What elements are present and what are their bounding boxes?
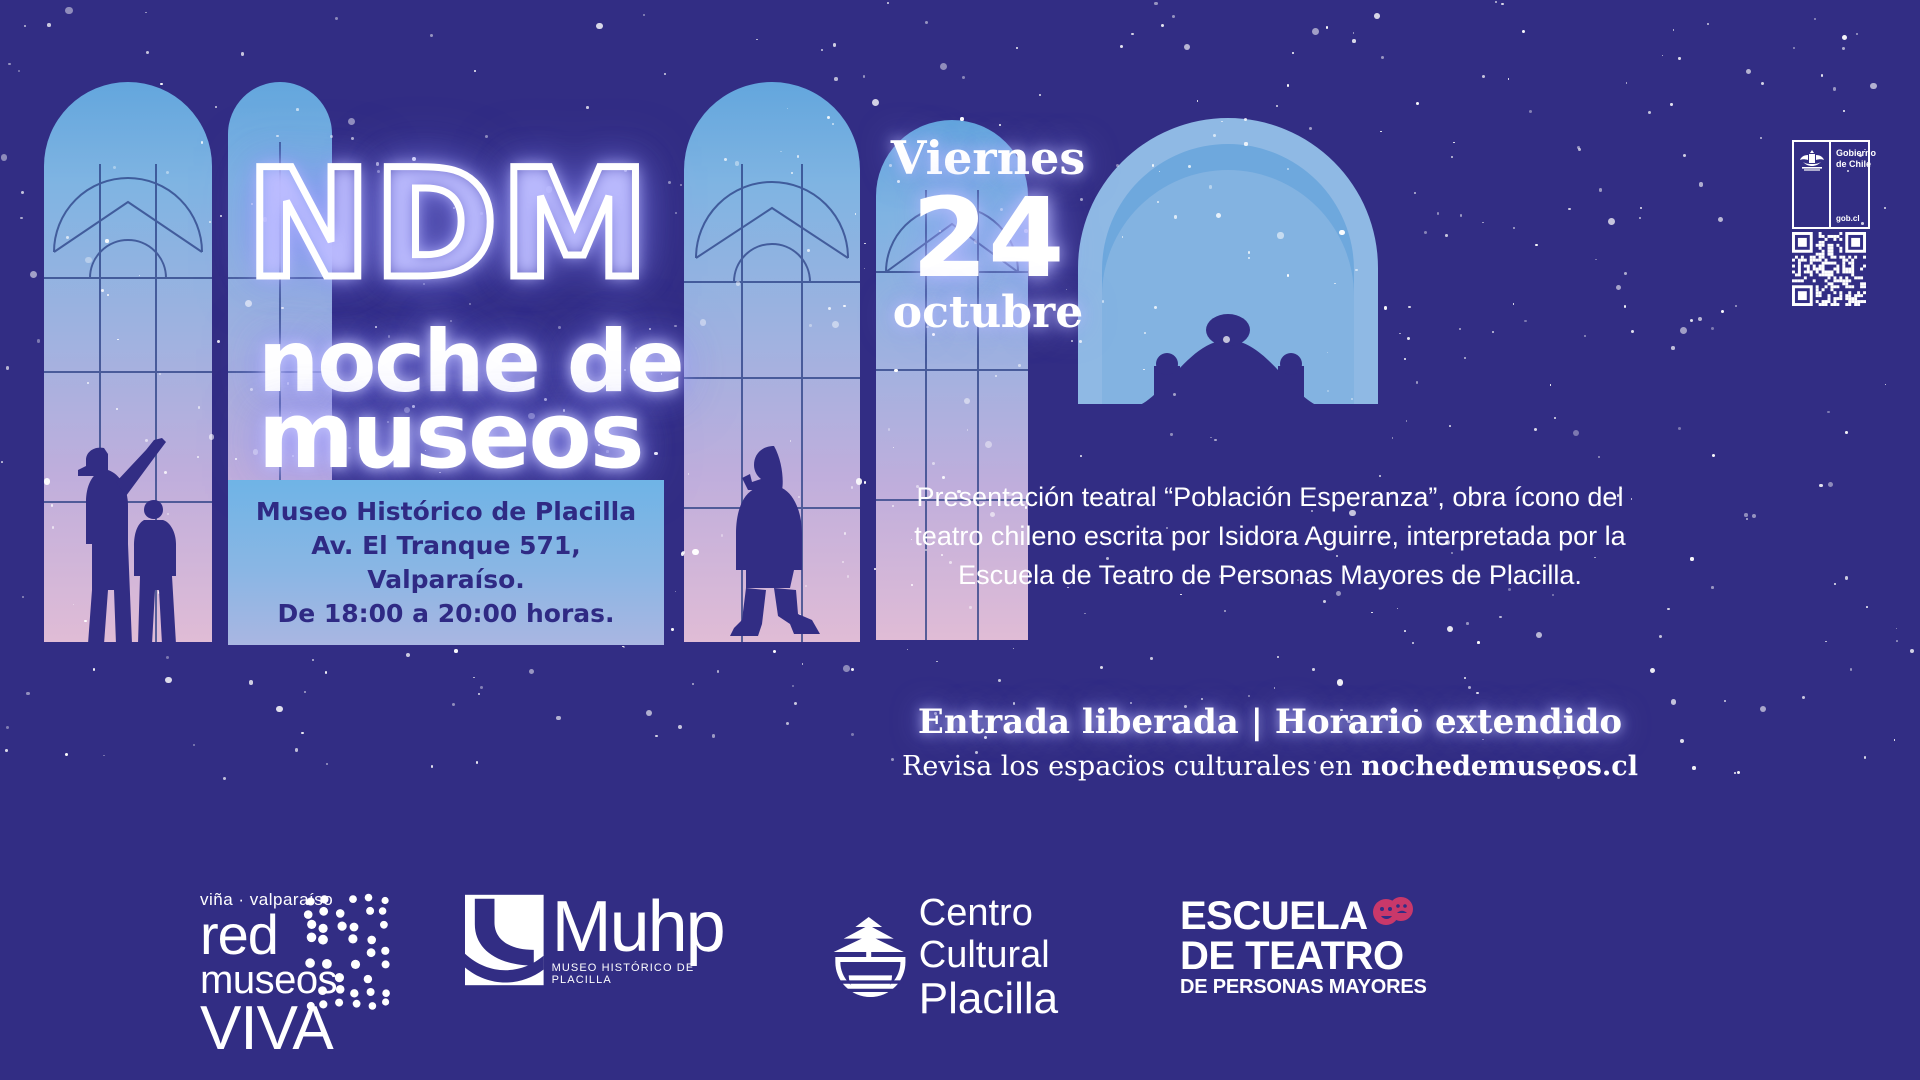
access-headline: Entrada liberada | Horario extendido: [890, 702, 1650, 742]
qr-code[interactable]: [1792, 232, 1866, 306]
website-cta: Revisa los espacios culturales en noched…: [890, 750, 1650, 784]
centro-cultural-tree-sun-icon: [832, 907, 909, 1007]
date-month: octubre: [878, 290, 1098, 336]
logo-centro-cultural-placilla: Centro Cultural Placilla: [832, 892, 1132, 1022]
chile-coat-of-arms-icon: [1794, 142, 1831, 227]
gobierno-line1: Gobierno: [1836, 148, 1876, 159]
gobierno-text-block: Gobierno de Chile gob.cl: [1831, 142, 1868, 227]
theater-masks-icon: [1372, 896, 1414, 930]
venue-info-box: Museo Histórico de Placilla Av. El Tranq…: [228, 480, 664, 645]
partner-logos-row: viña · valparaíso red museos VIVA Muhp M…: [0, 880, 1920, 1060]
venue-name: Museo Histórico de Placilla: [256, 496, 636, 528]
escuela-line2: DE TEATRO: [1180, 936, 1440, 976]
silhouette-adult-and-child: [58, 414, 208, 644]
centro-cultural-line1: Centro Cultural: [919, 892, 1132, 976]
centro-cultural-line2: Placilla: [919, 976, 1132, 1022]
silhouette-walking-person: [712, 438, 830, 638]
ndm-neon-logo: NDM: [246, 150, 666, 310]
venue-street: Av. El Tranque 571,: [311, 530, 581, 562]
escuela-line3: DE PERSONAS MAYORES: [1180, 976, 1440, 998]
cta-prefix: Revisa los espacios culturales en: [902, 751, 1361, 782]
event-description: Presentación teatral “Población Esperanz…: [890, 478, 1650, 595]
gobierno-de-chile-logo: Gobierno de Chile gob.cl: [1792, 140, 1870, 229]
coat-of-arms-glyph: [1799, 149, 1825, 171]
date-day: 24: [878, 186, 1098, 290]
gobierno-line2: de Chile: [1836, 159, 1876, 170]
venue-city: Valparaíso.: [367, 564, 525, 596]
muhp-wordmark: Muhp: [552, 892, 755, 962]
venue-hours: De 18:00 a 20:00 horas.: [277, 598, 614, 630]
logo-muhp: Muhp MUSEO HISTÓRICO DE PLACILLA: [465, 892, 755, 986]
poster-canvas: NDM noche de museos Museo Histórico de P…: [0, 0, 1920, 1080]
red-museos-dots-icon: [300, 892, 396, 1012]
event-date: Viernes 24 octubre: [878, 134, 1098, 336]
ndm-acronym: NDM: [246, 150, 666, 300]
gobierno-url: gob.cl: [1836, 214, 1860, 223]
muhp-subtitle: MUSEO HISTÓRICO DE PLACILLA: [552, 962, 755, 986]
gobierno-name: Gobierno de Chile: [1836, 148, 1876, 170]
muhp-wave-mark-icon: [465, 894, 544, 986]
stage-arch-graphic: [1068, 108, 1388, 408]
cta-site-link[interactable]: nochedemuseos.cl: [1361, 751, 1638, 782]
brand-line-museos: museos: [258, 382, 642, 489]
